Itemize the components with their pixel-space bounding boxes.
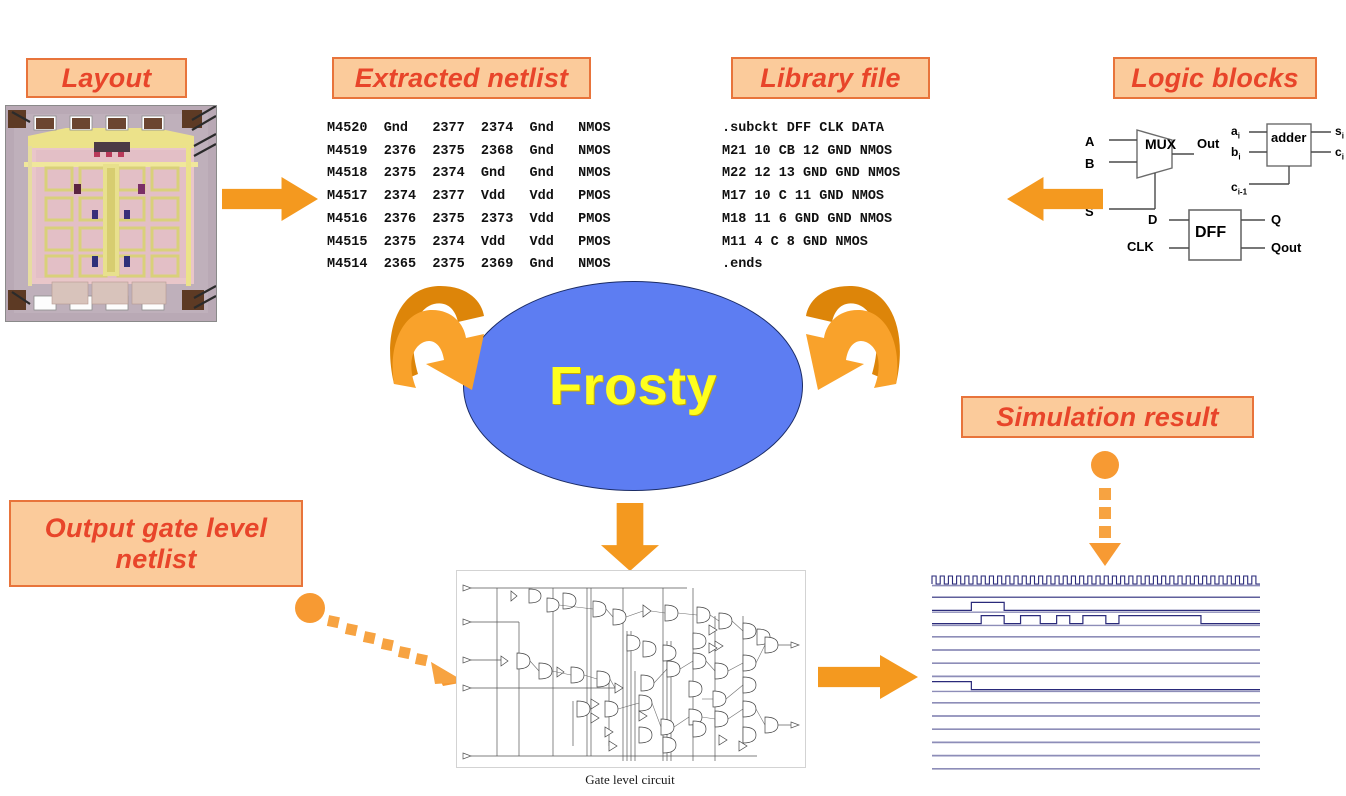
dff-input-d-label: D — [1148, 212, 1157, 227]
arrow-netlist-to-frosty — [372, 268, 500, 396]
arrow-frosty-to-circuit — [601, 503, 659, 571]
frosty-node[interactable]: Frosty — [463, 281, 803, 491]
adder-body-label: adder — [1271, 130, 1306, 145]
mux-body-label: MUX — [1145, 136, 1176, 152]
dff-output-qout-label: Qout — [1271, 240, 1301, 255]
arrow-library-to-frosty — [790, 268, 918, 396]
library-file-listing: .subckt DFF CLK DATA M21 10 CB 12 GND NM… — [722, 118, 952, 277]
adder-input-bi-label: bi — [1231, 145, 1241, 161]
extracted-netlist-listing: M4520 Gnd 2377 2374 Gnd NMOS M4519 2376 … — [327, 118, 617, 277]
gate-level-circuit-image — [456, 570, 806, 768]
arrow-outputnetlist-to-circuit — [285, 592, 470, 688]
dff-input-clk-label: CLK — [1127, 239, 1154, 254]
mux-output-label: Out — [1197, 136, 1219, 151]
adder-output-ci-label: ci — [1335, 145, 1344, 161]
arrow-circuit-to-simulation — [818, 655, 918, 699]
caption-library-file: Library file — [731, 57, 930, 99]
simulation-waveform-image — [928, 570, 1264, 792]
diagram-canvas: Layout Extracted netlist Library file Lo… — [0, 0, 1346, 796]
frosty-label: Frosty — [549, 355, 717, 417]
arrow-layout-to-netlist — [222, 177, 318, 221]
layout-die-photo — [5, 105, 217, 322]
dff-output-q-label: Q — [1271, 212, 1281, 227]
adder-output-si-label: si — [1335, 124, 1344, 140]
arrow-simlabel-to-waveform — [1069, 450, 1141, 568]
caption-layout: Layout — [26, 58, 187, 98]
dff-body-label: DFF — [1195, 224, 1226, 242]
mux-input-b-label: B — [1085, 156, 1094, 171]
mux-input-a-label: A — [1085, 134, 1094, 149]
adder-input-ai-label: ai — [1231, 124, 1240, 140]
logic-blocks-group: A B S Out MUX ai bi ci-1 — [1085, 112, 1343, 272]
caption-output-gate-level-netlist: Output gate level netlist — [9, 500, 303, 587]
caption-extracted-netlist: Extracted netlist — [332, 57, 591, 99]
caption-simulation-result: Simulation result — [961, 396, 1254, 438]
gate-level-circuit-caption: Gate level circuit — [505, 772, 755, 788]
caption-logic-blocks: Logic blocks — [1113, 57, 1317, 99]
